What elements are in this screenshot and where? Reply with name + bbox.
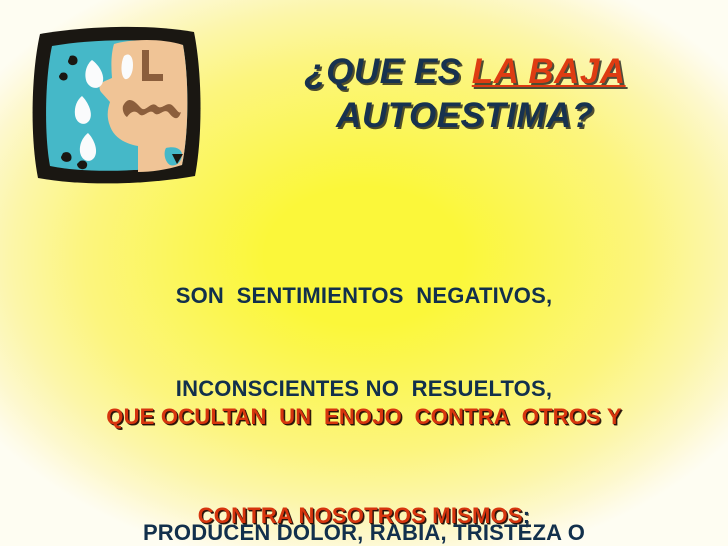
title-line-1-prefix: ¿QUE ES [304,52,471,91]
sad-crying-face-illustration [26,20,208,188]
title-line-2: AUTOESTIMA? [215,94,715,138]
title-highlight-la-baja: LA BAJA [472,52,626,91]
page-title: ¿QUE ES LA BAJA AUTOESTIMA? [215,50,715,138]
paragraph-consequences: PRODUCEN DOLOR, RABIA, TRISTEZA O DEPRES… [0,450,728,546]
paragraph-negative-feelings-line-1: SON SENTIMIENTOS NEGATIVOS, [0,280,728,311]
slide-canvas: ¿QUE ES LA BAJA AUTOESTIMA? SON SENTIMIE… [0,0,728,546]
paragraph-hidden-anger-line-1: QUE OCULTAN UN ENOJO CONTRA OTROS Y [0,400,728,433]
paragraph-consequences-line-1: PRODUCEN DOLOR, RABIA, TRISTEZA O [0,516,728,546]
title-line-1: ¿QUE ES LA BAJA [215,50,715,94]
